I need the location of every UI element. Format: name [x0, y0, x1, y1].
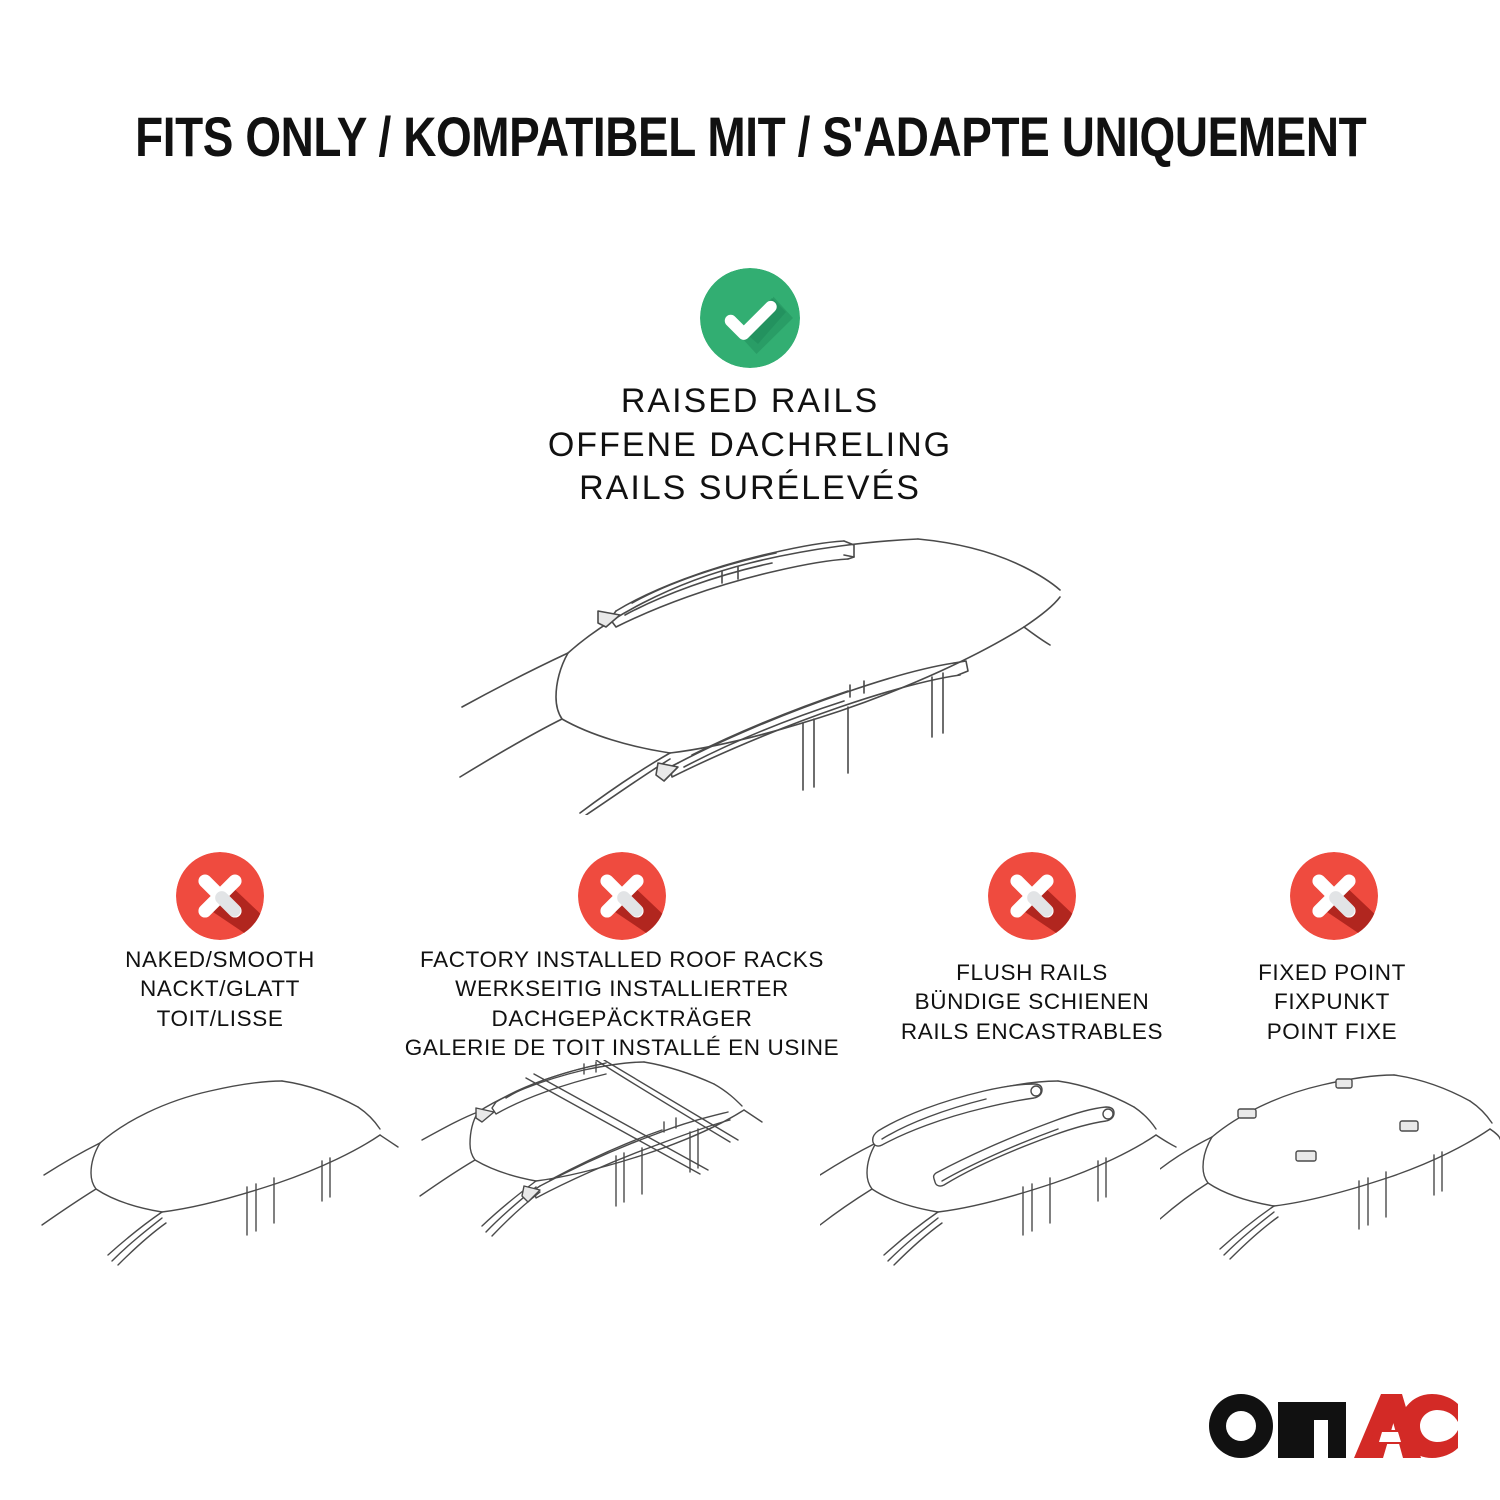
caption-line-3: POINT FIXE — [1164, 1017, 1500, 1046]
incompatible-caption-flush-rails: FLUSH RAILS BÜNDIGE SCHIENEN RAILS ENCAS… — [852, 958, 1212, 1046]
caption-line-3: DACHGEPÄCKTRÄGER — [382, 1004, 862, 1033]
cross-circle-icon — [176, 852, 264, 940]
compatible-caption: RAISED RAILS OFFENE DACHRELING RAILS SUR… — [250, 380, 1250, 511]
page-title-bar: FITS ONLY / KOMPATIBEL MIT / S'ADAPTE UN… — [0, 104, 1500, 169]
caption-line-1: NAKED/SMOOTH — [20, 945, 420, 974]
car-roof-flush-rails-illustration — [820, 1065, 1190, 1295]
check-circle-icon — [700, 268, 800, 368]
caption-line-2: BÜNDIGE SCHIENEN — [852, 987, 1212, 1016]
incompatible-caption-fixed-point: FIXED POINT FIXPUNKT POINT FIXE — [1164, 958, 1500, 1046]
cross-circle-icon — [1290, 852, 1378, 940]
car-roof-naked-smooth-illustration — [40, 1065, 400, 1295]
car-roof-factory-roof-racks-illustration — [400, 1060, 770, 1295]
caption-line-1: FACTORY INSTALLED ROOF RACKS — [382, 945, 862, 974]
compatible-line-1: RAISED RAILS — [250, 380, 1250, 424]
cross-circle-icon — [578, 852, 666, 940]
cross-circle-icon — [988, 852, 1076, 940]
incompatible-caption-factory-roof-racks: FACTORY INSTALLED ROOF RACKS WERKSEITIG … — [382, 945, 862, 1062]
caption-line-2: WERKSEITIG INSTALLIERTER — [382, 974, 862, 1003]
caption-line-3: RAILS ENCASTRABLES — [852, 1017, 1212, 1046]
caption-line-1: FIXED POINT — [1164, 958, 1500, 987]
caption-line-1: FLUSH RAILS — [852, 958, 1212, 987]
caption-line-4: GALERIE DE TOIT INSTALLÉ EN USINE — [382, 1033, 862, 1062]
caption-line-3: TOIT/LISSE — [20, 1004, 420, 1033]
compatible-line-2: OFFENE DACHRELING — [250, 424, 1250, 468]
caption-line-2: NACKT/GLATT — [20, 974, 420, 1003]
page-title: FITS ONLY / KOMPATIBEL MIT / S'ADAPTE UN… — [135, 104, 1366, 169]
omac-logo — [1206, 1382, 1458, 1460]
car-roof-fixed-point-illustration — [1160, 1065, 1500, 1295]
car-roof-raised-rails-illustration — [420, 515, 1080, 815]
compatible-line-3: RAILS SURÉLEVÉS — [250, 467, 1250, 511]
incompatible-caption-naked-smooth: NAKED/SMOOTH NACKT/GLATT TOIT/LISSE — [20, 945, 420, 1033]
caption-line-2: FIXPUNKT — [1164, 987, 1500, 1016]
